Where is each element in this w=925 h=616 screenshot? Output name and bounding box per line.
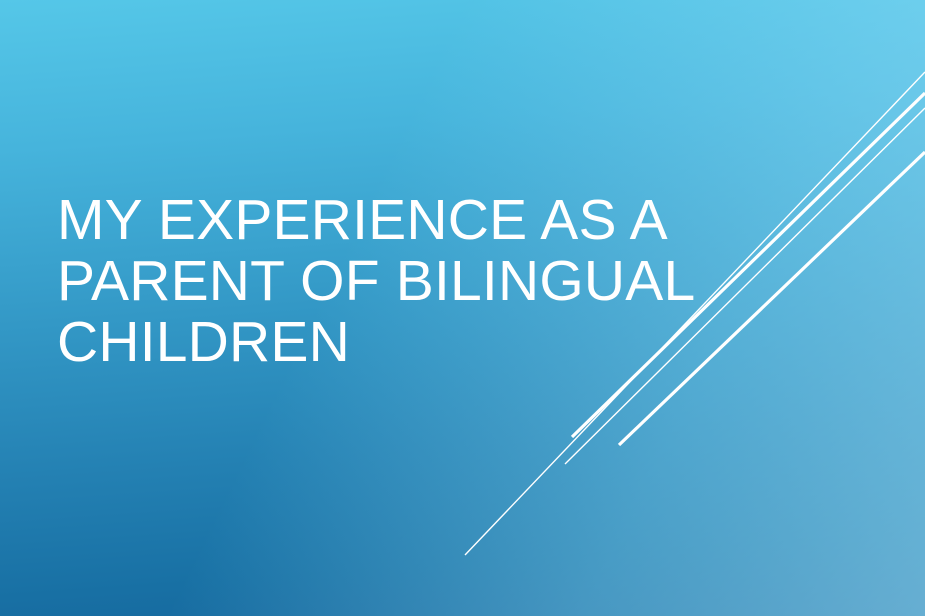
presentation-slide: MY EXPERIENCE AS A PARENT OF BILINGUAL C…: [0, 0, 925, 616]
slide-title-block: MY EXPERIENCE AS A PARENT OF BILINGUAL C…: [57, 190, 697, 373]
slide-title: MY EXPERIENCE AS A PARENT OF BILINGUAL C…: [57, 190, 697, 373]
